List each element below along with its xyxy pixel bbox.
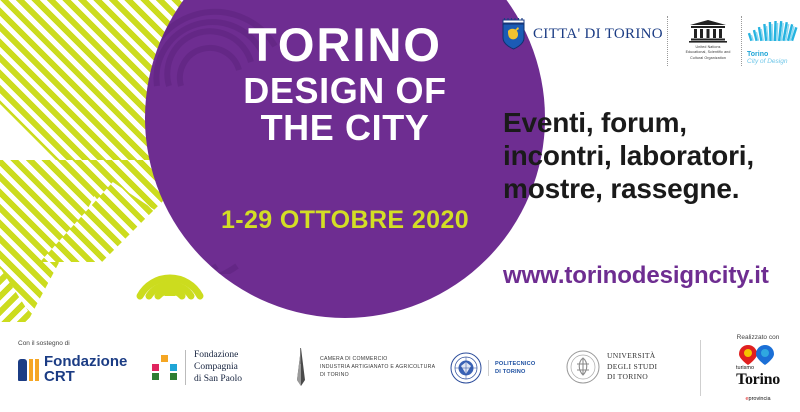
torino-city-of-design-mark-icon <box>747 17 799 45</box>
poster-headline: TORINO DESIGN OF THE CITY <box>145 22 545 146</box>
universita-line-3: DI TORINO <box>607 372 657 383</box>
headline-line-3: THE CITY <box>145 111 545 146</box>
headline-line-1: TORINO <box>145 22 545 68</box>
sponsor-compagnia-di-san-paolo[interactable]: Fondazione Compagnia di San Paolo <box>152 350 242 385</box>
politecnico-line-2: DI TORINO <box>495 368 535 376</box>
universita-line-1: UNIVERSITÀ <box>607 351 657 362</box>
unesco-temple-icon <box>688 19 728 43</box>
unesco-caption-line-3: Cultural Organization <box>677 56 739 61</box>
sanpaolo-line-1: Fondazione <box>194 350 242 362</box>
compagnia-san-paolo-dots-icon <box>152 355 177 380</box>
camera-di-commercio-icon <box>288 346 314 388</box>
logo-torino-city-of-design[interactable]: Torino City of Design <box>747 17 799 65</box>
poster-canvas: TORINO DESIGN OF THE CITY 1-29 OTTOBRE 2… <box>0 0 800 412</box>
sanpaolo-line-2: Compagnia <box>194 362 242 374</box>
torino-city-of-design-name: Torino <box>747 51 799 58</box>
realized-with-block[interactable]: Realizzato con turismo Torino eprovincia <box>722 334 794 404</box>
camera-line-2: INDUSTRIA ARTIGIANATO E AGRICOLTURA <box>320 363 435 371</box>
politecnico-seal-icon <box>450 352 482 384</box>
hero-text-block: TORINO DESIGN OF THE CITY 1-29 OTTOBRE 2… <box>145 0 545 318</box>
camera-line-3: DI TORINO <box>320 371 435 379</box>
logo-citta-di-torino[interactable]: CITTA' DI TORINO <box>500 18 663 51</box>
logo-divider-right <box>741 16 742 66</box>
logo-divider-left <box>667 16 668 66</box>
website-url-link[interactable]: www.torinodesigncity.it <box>503 262 769 290</box>
realized-label: Realizzato con <box>722 334 794 341</box>
tagline-line-2: incontri, laboratori, <box>503 139 793 172</box>
tagline-line-1: Eventi, forum, <box>503 106 793 139</box>
tagline-line-3: mostre, rassegne. <box>503 172 793 205</box>
sponsor-footer: Con il sostegno di Fondazione CRT Fondaz… <box>0 322 800 412</box>
event-date: 1-29 OTTOBRE 2020 <box>145 206 545 235</box>
turismo-torino-name: Torino <box>722 372 794 387</box>
turismo-bottom-word: provincia <box>749 396 771 402</box>
sponsor-universita-degli-studi[interactable]: UNIVERSITÀ DEGLI STUDI DI TORINO <box>566 350 657 384</box>
universita-seal-icon <box>566 350 600 384</box>
footer-divider <box>700 340 701 396</box>
institutional-logo-row: CITTA' DI TORINO United Nations Educa <box>495 14 795 72</box>
unesco-caption-line-2: Educational, Scientific and <box>677 50 739 55</box>
citta-di-torino-label: CITTA' DI TORINO <box>533 26 663 43</box>
logo-unesco[interactable]: United Nations Educational, Scientific a… <box>677 19 739 61</box>
torino-crest-shield-icon <box>500 18 527 51</box>
turismo-torino-pins-icon <box>738 344 778 366</box>
sponsor-camera-di-commercio[interactable]: CAMERA DI COMMERCIO INDUSTRIA ARTIGIANAT… <box>288 346 435 388</box>
camera-line-1: CAMERA DI COMMERCIO <box>320 355 435 363</box>
headline-line-2: DESIGN OF <box>145 74 545 109</box>
fondazione-crt-bars-icon <box>18 357 39 381</box>
politecnico-line-1: POLITECNICO <box>495 360 535 368</box>
event-tagline: Eventi, forum, incontri, laboratori, mos… <box>503 106 793 205</box>
universita-line-2: DEGLI STUDI <box>607 362 657 373</box>
sponsor-fondazione-crt[interactable]: Fondazione CRT <box>18 354 127 385</box>
support-label: Con il sostegno di <box>18 340 70 347</box>
sanpaolo-line-3: di San Paolo <box>194 374 242 386</box>
crt-line-1: Fondazione <box>44 354 127 369</box>
sponsor-politecnico-di-torino[interactable]: POLITECNICO DI TORINO <box>450 352 535 384</box>
torino-city-of-design-subtitle: City of Design <box>747 58 799 65</box>
crt-line-2: CRT <box>44 369 127 384</box>
